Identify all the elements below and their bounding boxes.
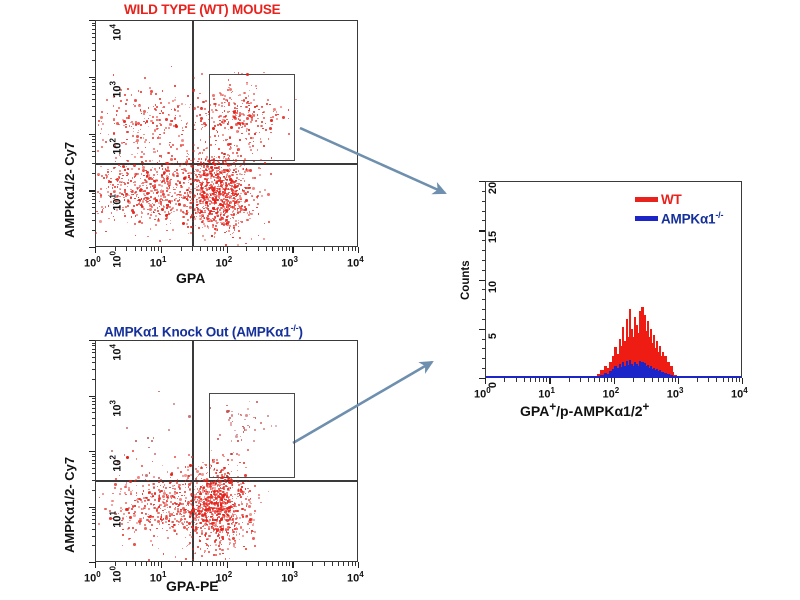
ko-ytick-major-4 [89,340,95,341]
ko-xtick-minor [158,562,159,566]
wt-xtick-major-2 [227,247,228,253]
wt-ytick-major-2 [89,134,95,135]
ko-ytick-minor [92,379,96,380]
wt-xtick-minor [289,247,290,251]
hist-xticklabel-3: 103 [667,386,684,401]
ko-xtick-minor [135,562,136,566]
ko-ytick-minor [92,480,96,481]
ko-xtick-minor [220,562,221,566]
ko-xtick-minor [312,562,313,566]
wt-ytick-minor [92,213,96,214]
wt-xtick-minor [181,247,182,251]
wt-xtick-minor [266,247,267,251]
ko-xtick-minor [266,562,267,566]
wt-ytick-minor [92,116,96,117]
ko-yticklabel-0: 100 [109,562,124,586]
ko-to-histogram-arrow [293,362,432,443]
hist-xtick-minor [732,378,733,382]
ko-ytick-minor [92,398,96,399]
ko-xtick-minor [207,562,208,566]
wt-xticklabel-2: 102 [216,255,233,270]
ko-xtick-minor [223,562,224,566]
ko-ytick-minor [92,412,96,413]
wt-ytick-minor [92,196,96,197]
wt-xtick-minor [258,247,259,251]
ko-xtick-minor [348,562,349,566]
hist-ytick-minor [482,220,486,221]
wt-ytick-minor [92,23,96,24]
ko-yticklabel-1: 101 [109,507,124,531]
hist-yticklabel-15: 15 [487,229,499,245]
ko-ytick-minor [92,468,96,469]
wt-xtick-minor [154,247,155,251]
ko-ytick-minor [92,349,96,350]
hist-xticklabel-0: 100 [474,386,491,401]
ko-xtick-minor [355,562,356,566]
ko-xtick-major-2 [227,562,228,568]
ko-xticklabel-4: 104 [347,570,364,585]
ko-ytick-minor [92,512,96,513]
wt-ytick-minor [92,139,96,140]
hist-xtick-minor [599,378,600,382]
wt-ytick-minor [92,79,96,80]
ko-ytick-minor [92,523,96,524]
hist-ytick-minor [482,211,486,212]
wt-ytick-minor [92,43,96,44]
wt-ytick-minor [92,50,96,51]
hist-ytick-minor [482,191,486,192]
ko-xtick-minor [141,562,142,566]
wt-xtick-minor [282,247,283,251]
hist-ytick-minor [482,309,486,310]
ko-ytick-minor [92,362,96,363]
hist-xtick-minor [739,378,740,382]
hist-xtick-minor [524,378,525,382]
hist-xtick-major-4 [742,378,743,384]
wt-yticklabel-0: 100 [109,247,124,271]
ko-xtick-minor [154,562,155,566]
wt-yticklabel-1: 101 [109,191,124,215]
hist-ytick-minor [482,299,486,300]
wt-xtick-minor [272,247,273,251]
ko-xtick-major-1 [161,562,162,568]
hist-xtick-major-0 [485,378,486,384]
ko-ytick-minor [92,418,96,419]
ko-ytick-minor [92,408,96,409]
hist-ytick-minor [482,201,486,202]
ko-xtick-major-3 [292,562,293,568]
wt-ytick-minor [92,151,96,152]
ko-xtick-minor [272,562,273,566]
hist-xtick-minor [604,378,605,382]
wt-ytick-minor [92,94,96,95]
wt-xtick-minor [151,247,152,251]
wt-xtick-minor [146,247,147,251]
ko-xtick-minor [126,562,127,566]
wt-ytick-minor [92,173,96,174]
hist-xtick-minor [543,378,544,382]
wt-ytick-minor [92,146,96,147]
hist-ytick-minor [482,368,486,369]
ko-ytick-minor [92,401,96,402]
wt-xtick-minor [223,247,224,251]
hist-xtick-minor [539,378,540,382]
ko-xtick-minor [343,562,344,566]
wt-xtick-major-3 [292,247,293,253]
hist-yticklabel-10: 10 [487,279,499,295]
ko-xtick-minor [200,562,201,566]
hist-xtick-minor [668,378,669,382]
wt-xticklabel-4: 104 [347,255,364,270]
ko-xtick-minor [212,562,213,566]
hist-xtick-minor [546,378,547,382]
wt-xtick-minor [348,247,349,251]
ko-ytick-major-3 [89,396,95,397]
wt-xtick-minor [207,247,208,251]
wt-ytick-minor [92,37,96,38]
ko-quadrant-horizontal-line [95,480,358,482]
wt-xtick-minor [352,247,353,251]
ko-ytick-major-1 [89,507,95,508]
wt-xtick-minor [220,247,221,251]
wt-xtick-minor [135,247,136,251]
wt-ytick-minor [92,106,96,107]
hist-ytick-major-5 [479,329,485,330]
wt-xtick-minor [278,247,279,251]
wt-ytick-minor [92,230,96,231]
wt-ytick-major-0 [89,247,95,248]
wt-xtick-minor [286,247,287,251]
hist-ytick-minor [482,339,486,340]
ko-ytick-minor [92,369,96,370]
ko-ytick-minor [92,454,96,455]
ko-xticklabel-1: 101 [150,570,167,585]
wt-ytick-minor [92,33,96,34]
wt-ytick-minor [92,86,96,87]
ko-xticklabel-0: 100 [84,570,101,585]
hist-ytick-minor [482,358,486,359]
wt-ytick-minor [92,29,96,30]
hist-xticklabel-2: 102 [603,386,620,401]
wt-ytick-minor [92,60,96,61]
wt-xticklabel-0: 100 [84,255,101,270]
ko-xtick-minor [192,562,193,566]
hist-xtick-minor [588,378,589,382]
ko-ytick-minor [92,456,96,457]
ko-yticklabel-2: 102 [109,451,124,475]
hist-yticklabel-5: 5 [487,328,499,344]
ko-ytick-minor [92,460,96,461]
wt-yticklabel-2: 102 [109,134,124,158]
hist-ytick-minor [482,260,486,261]
ko-xtick-minor [352,562,353,566]
hist-ytick-minor [482,348,486,349]
ko-quadrant-vertical-line [192,340,194,562]
ko-ytick-minor [92,352,96,353]
wt-xtick-minor [141,247,142,251]
hist-ytick-major-20 [479,181,485,182]
wt-xticklabel-3: 103 [281,255,298,270]
wt-xticklabel-1: 101 [150,255,167,270]
ko-ytick-minor [92,357,96,358]
ko-xtick-major-0 [95,562,96,568]
ko-yticklabel-3: 103 [109,396,124,420]
ko-xtick-minor [332,562,333,566]
wt-ytick-minor [92,203,96,204]
wt-xtick-minor [126,247,127,251]
wt-ytick-major-4 [89,20,95,21]
wt-xtick-minor [332,247,333,251]
hist-xtick-minor [658,378,659,382]
hist-yticklabel-20: 20 [487,180,499,196]
hist-ytick-minor [482,240,486,241]
hist-xtick-major-2 [614,378,615,384]
ko-ytick-major-2 [89,451,95,452]
ko-ytick-minor [92,473,96,474]
wt-region-gate [209,74,295,160]
hist-xtick-minor [516,378,517,382]
ko-ytick-minor [92,490,96,491]
hist-ytick-major-10 [479,280,485,281]
hist-xticklabel-4: 104 [731,386,748,401]
wt-xtick-minor [212,247,213,251]
hist-xtick-minor [644,378,645,382]
ko-ytick-major-0 [89,562,95,563]
hist-xtick-minor [569,378,570,382]
wt-ytick-major-1 [89,190,95,191]
hist-xtick-major-3 [678,378,679,384]
hist-xtick-minor [530,378,531,382]
ko-xtick-minor [324,562,325,566]
wt-quadrant-horizontal-line [95,163,358,165]
wt-xtick-minor [338,247,339,251]
wt-ytick-minor [92,136,96,137]
hist-ytick-minor [482,250,486,251]
ko-ytick-minor [92,545,96,546]
wt-ytick-minor [92,156,96,157]
ko-xtick-minor [289,562,290,566]
ko-xtick-minor [181,562,182,566]
wt-ytick-minor [92,220,96,221]
ko-ytick-minor [92,509,96,510]
hist-xtick-minor [580,378,581,382]
ko-ytick-minor [92,404,96,405]
hist-xtick-minor [672,378,673,382]
wt-ytick-minor [92,82,96,83]
ko-xtick-minor [151,562,152,566]
wt-xtick-minor [355,247,356,251]
hist-xtick-minor [675,378,676,382]
wt-xtick-minor [324,247,325,251]
wt-xtick-major-1 [161,247,162,253]
wt-xtick-minor [158,247,159,251]
ko-ytick-minor [92,345,96,346]
flow-cytometry-figure: WILD TYPE (WT) MOUSE AMPKα1/2- Cy7 GPA A… [0,0,800,600]
wt-xtick-minor [343,247,344,251]
ko-xtick-minor [278,562,279,566]
hist-xticklabel-1: 101 [538,386,555,401]
ko-ytick-minor [92,463,96,464]
wt-xtick-minor [192,247,193,251]
wt-xtick-major-0 [95,247,96,253]
ko-xtick-minor [216,562,217,566]
hist-ytick-minor [482,319,486,320]
ko-ytick-minor [92,529,96,530]
wt-ytick-minor [92,99,96,100]
hist-xtick-minor [736,378,737,382]
wt-xtick-minor [216,247,217,251]
wt-ytick-minor [92,163,96,164]
hist-ytick-minor [482,289,486,290]
wt-ytick-minor [92,142,96,143]
ko-ytick-minor [92,434,96,435]
hist-xtick-minor [652,378,653,382]
ko-xtick-minor [282,562,283,566]
ko-xtick-minor [286,562,287,566]
hist-xtick-minor [708,378,709,382]
hist-xtick-minor [504,378,505,382]
wt-ytick-minor [92,199,96,200]
ko-xtick-minor [146,562,147,566]
ko-yticklabel-4: 104 [109,340,124,364]
hist-xtick-minor [728,378,729,382]
ko-xtick-minor [338,562,339,566]
wt-ytick-major-3 [89,77,95,78]
hist-xtick-minor [607,378,608,382]
wt-xtick-minor [312,247,313,251]
hist-xtick-minor [723,378,724,382]
wt-xtick-minor [200,247,201,251]
wt-quadrant-vertical-line [192,20,194,247]
ko-xtick-minor [258,562,259,566]
wt-ytick-minor [92,25,96,26]
ko-xticklabel-2: 102 [216,570,233,585]
ko-ytick-minor [92,536,96,537]
wt-ytick-minor [92,207,96,208]
hist-ytick-major-15 [479,230,485,231]
wt-ytick-minor [92,193,96,194]
hist-ytick-minor [482,270,486,271]
ko-ytick-minor [92,519,96,520]
hist-xtick-minor [594,378,595,382]
ko-ytick-minor [92,343,96,344]
wt-yticklabel-3: 103 [109,77,124,101]
wt-ytick-minor [92,89,96,90]
ko-region-gate [209,393,295,478]
hist-xtick-minor [633,378,634,382]
wt-xtick-minor [246,247,247,251]
ko-xtick-major-4 [358,562,359,568]
ko-xtick-minor [246,562,247,566]
hist-xtick-major-1 [549,378,550,384]
hist-xtick-minor [611,378,612,382]
hist-xtick-minor [716,378,717,382]
wt-to-histogram-arrow [300,128,445,193]
hist-xtick-minor [697,378,698,382]
wt-yticklabel-4: 104 [109,20,124,44]
wt-xtick-major-4 [358,247,359,253]
ko-ytick-minor [92,425,96,426]
ko-ytick-minor [92,515,96,516]
hist-baseline-ko [486,376,741,379]
hist-xtick-minor [663,378,664,382]
hist-xtick-minor [535,378,536,382]
ko-xticklabel-3: 103 [281,570,298,585]
